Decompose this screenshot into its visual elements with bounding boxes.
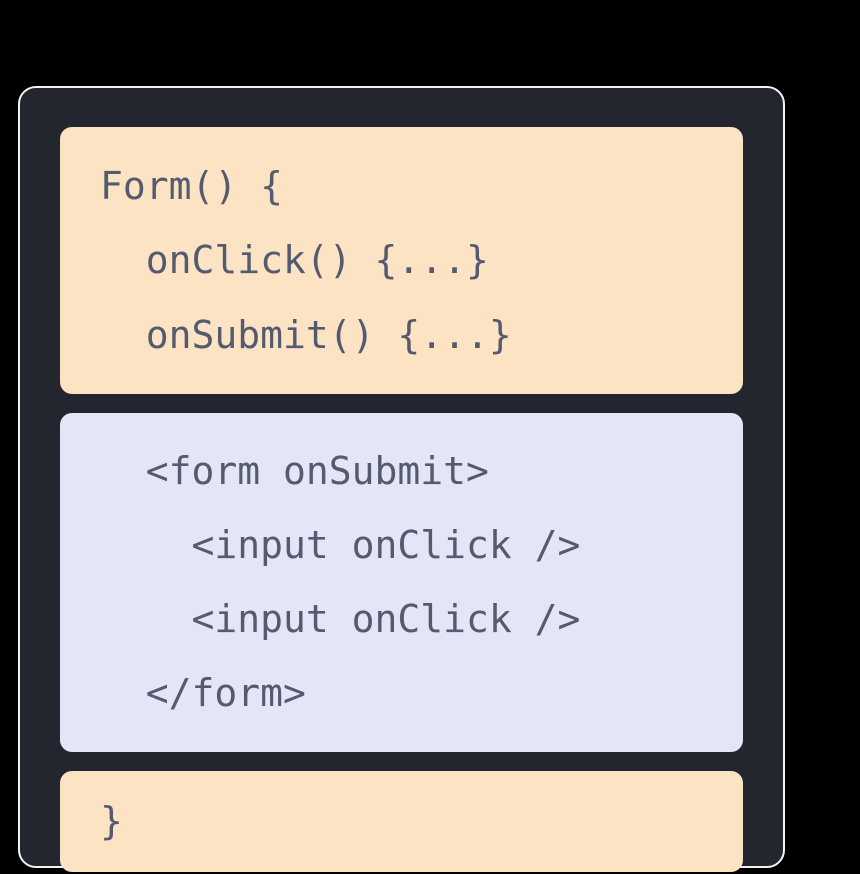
code-line: } — [60, 793, 743, 850]
code-line: onClick() {...} — [60, 223, 743, 297]
code-block-component-closing: } — [60, 771, 743, 872]
code-line: <form onSubmit> — [60, 435, 743, 509]
code-line: <input onClick /> — [60, 509, 743, 583]
code-line: Form() { — [60, 149, 743, 223]
code-block-markup: <form onSubmit> <input onClick /> <input… — [60, 413, 743, 752]
code-line: onSubmit() {...} — [60, 298, 743, 372]
code-line: </form> — [60, 657, 743, 731]
page-root: Form() { onClick() {...} onSubmit() {...… — [0, 0, 860, 874]
code-card: Form() { onClick() {...} onSubmit() {...… — [18, 86, 785, 868]
code-line: <input onClick /> — [60, 583, 743, 657]
code-block-component-declaration: Form() { onClick() {...} onSubmit() {...… — [60, 127, 743, 394]
